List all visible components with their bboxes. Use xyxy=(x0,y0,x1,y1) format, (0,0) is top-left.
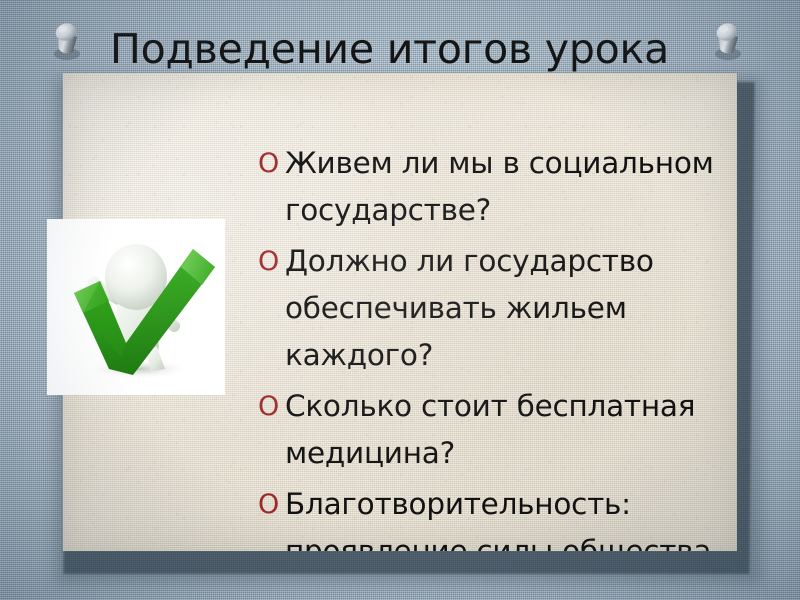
list-item-text: Живем ли мы в социальном государстве? xyxy=(285,140,737,234)
list-item: O Должно ли государство обеспечивать жил… xyxy=(258,238,737,379)
list-item-line: медицина? xyxy=(285,430,737,477)
bullet-list: O Живем ли мы в социальном государстве? … xyxy=(258,140,737,551)
page-title: Подведение итогов урока xyxy=(110,24,730,74)
list-item-line: государстве? xyxy=(285,187,737,234)
circle-bullet-icon: O xyxy=(258,481,280,528)
circle-bullet-icon: O xyxy=(258,140,280,187)
list-item-text: Благотворительность: проявление силы общ… xyxy=(285,481,737,551)
list-item-line: проявление силы общества xyxy=(285,528,737,551)
bullet-list-clip: O Живем ли мы в социальном государстве? … xyxy=(63,73,737,551)
list-item-line: обеспечивать жильем xyxy=(285,285,737,332)
list-item-line: каждого? xyxy=(285,332,737,379)
circle-bullet-icon: O xyxy=(258,383,280,430)
list-item: O Живем ли мы в социальном государстве? xyxy=(258,140,737,234)
slide: Подведение итогов урока O Живем ли мы в … xyxy=(0,0,800,600)
list-item-text: Сколько стоит бесплатная медицина? xyxy=(285,383,737,477)
list-item-line: Сколько стоит бесплатная xyxy=(285,383,737,430)
list-item: O Сколько стоит бесплатная медицина? xyxy=(258,383,737,477)
list-item: O Благотворительность: проявление силы о… xyxy=(258,481,737,551)
list-item-line: Живем ли мы в социальном xyxy=(285,140,737,187)
list-item-line: Благотворительность: xyxy=(285,481,737,528)
list-item-text: Должно ли государство обеспечивать жилье… xyxy=(285,238,737,379)
circle-bullet-icon: O xyxy=(258,238,280,285)
list-item-line: Должно ли государство xyxy=(285,238,737,285)
